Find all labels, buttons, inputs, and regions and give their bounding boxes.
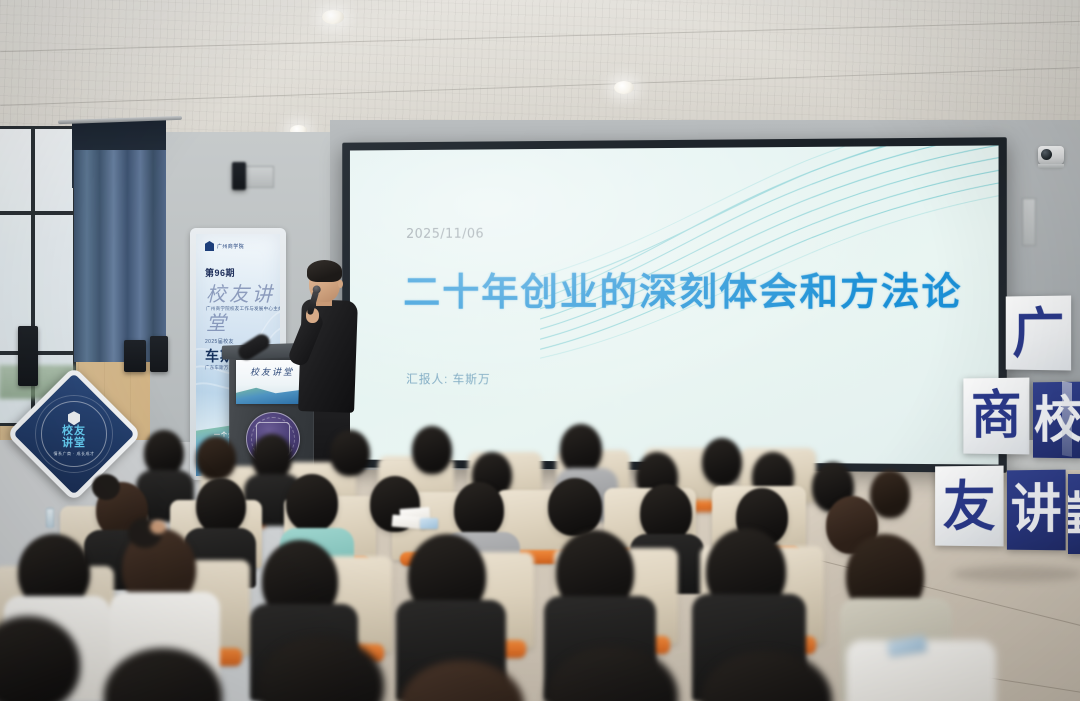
wall-speaker <box>232 162 246 190</box>
podium-sign-text: 校友讲堂 <box>236 365 308 378</box>
slide-presenter: 汇报人: 车斯万 <box>406 370 491 387</box>
downlight <box>322 10 344 24</box>
cube-side-face <box>1062 381 1072 457</box>
cube-letter: 堂 <box>1068 474 1080 554</box>
emblem-text-line1: 校友 <box>62 426 86 437</box>
podium-sign: 校友讲堂 <box>236 360 308 404</box>
cube-glyph: 校 <box>1034 395 1080 445</box>
cube-shadow <box>952 566 1080 582</box>
cube-glyph: 友 <box>943 479 996 533</box>
university-crest-icon <box>205 241 214 251</box>
banner-subtitle: 广州商学院校友工作与发展中心主办 <box>206 306 280 312</box>
cube-glyph: 堂 <box>1068 491 1080 537</box>
projection-screen-frame: 2025/11/06 二十年创业的深刻体会和方法论 汇报人: 车斯万 <box>342 137 1007 473</box>
window-mullion <box>0 351 79 355</box>
curtain <box>74 150 166 362</box>
emblem-subtext: 情系广商 · 成长成才 <box>53 451 94 457</box>
podium-sign-graphic <box>236 386 308 404</box>
banner-speaker-label: 2025届校友 <box>205 338 234 345</box>
wall-vent <box>1022 198 1036 246</box>
university-crest-icon <box>68 411 80 425</box>
slide-title: 二十年创业的深刻体会和方法论 <box>403 260 962 316</box>
downlight <box>614 81 634 94</box>
emblem-inner: 校友 讲堂 情系广商 · 成长成才 <box>41 401 107 467</box>
lecture-hall-photo: 2025/11/06 二十年创业的深刻体会和方法论 汇报人: 车斯万 广州商学院… <box>0 0 1080 701</box>
cube-glyph: 商 <box>971 390 1021 442</box>
projection-screen: 2025/11/06 二十年创业的深刻体会和方法论 汇报人: 车斯万 <box>350 145 999 464</box>
window-mullion <box>0 211 79 215</box>
cube-glyph: 广 <box>1012 306 1064 361</box>
wall-speaker-left <box>18 326 38 386</box>
slide-date: 2025/11/06 <box>406 227 484 242</box>
cube-letter: 友 <box>935 466 1003 547</box>
security-camera-icon <box>1038 146 1064 165</box>
cube-letter: 商 <box>963 378 1029 455</box>
banner-logo-text: 广州商学院 <box>217 243 244 250</box>
speaker-ear <box>338 280 343 288</box>
wall-speaker <box>150 336 168 372</box>
cube-glyph: 讲 <box>1011 484 1062 536</box>
cube-letter: 校 <box>1033 382 1080 459</box>
speaker-hair <box>307 260 342 282</box>
cube-letter: 广 <box>1006 295 1071 370</box>
emblem-text-line2: 讲堂 <box>62 438 86 449</box>
wall-speaker <box>124 340 146 372</box>
banner-logo: 广州商学院 <box>205 241 244 251</box>
cube-letter: 讲 <box>1007 470 1066 551</box>
